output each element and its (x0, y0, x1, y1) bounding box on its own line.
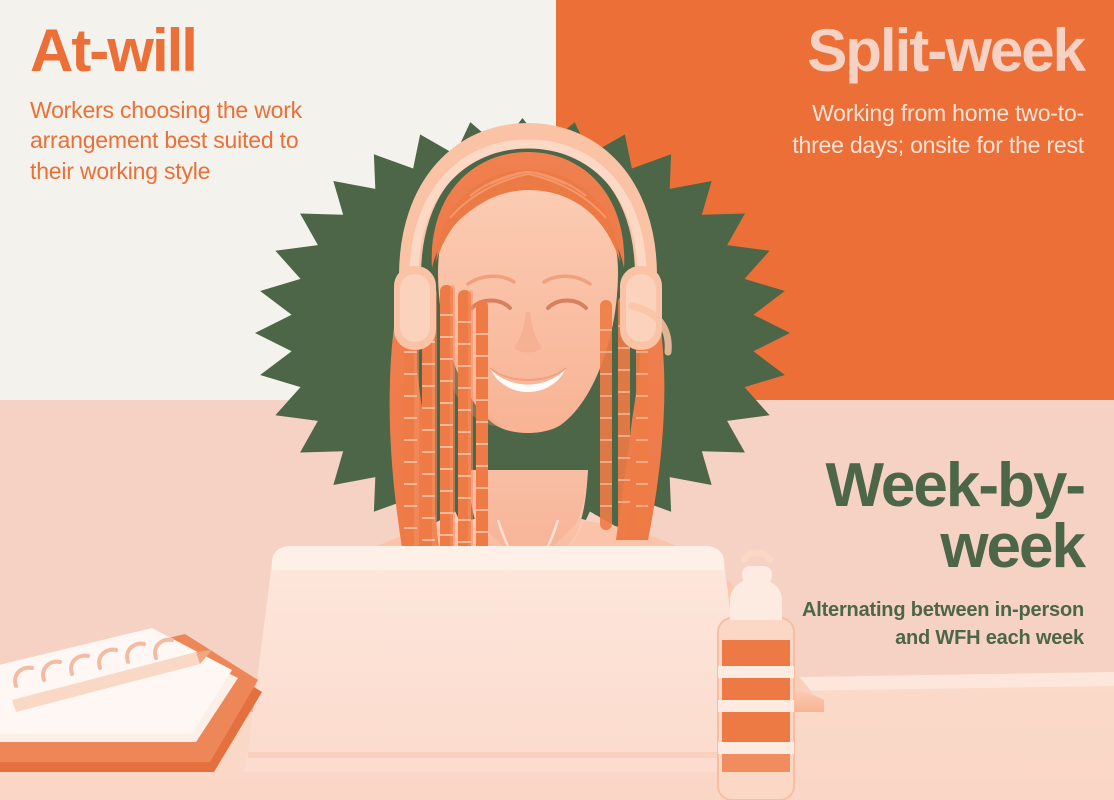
panel-week-by-week: Week-by-week Alternating between in-pers… (764, 456, 1084, 652)
heading-at-will: At-will (30, 22, 330, 81)
poster-canvas: At-will Workers choosing the work arrang… (0, 0, 1114, 800)
panel-at-will: At-will Workers choosing the work arrang… (30, 22, 330, 187)
heading-week-by-week: Week-by-week (764, 456, 1084, 578)
panel-split-week: Split-week Working from home two-to-thre… (774, 22, 1084, 161)
starburst-badge (255, 118, 790, 548)
body-split-week: Working from home two-to-three days; ons… (774, 98, 1084, 161)
heading-split-week: Split-week (774, 22, 1084, 80)
body-week-by-week: Alternating between in-person and WFH ea… (764, 596, 1084, 653)
body-at-will: Workers choosing the work arrangement be… (30, 95, 330, 187)
